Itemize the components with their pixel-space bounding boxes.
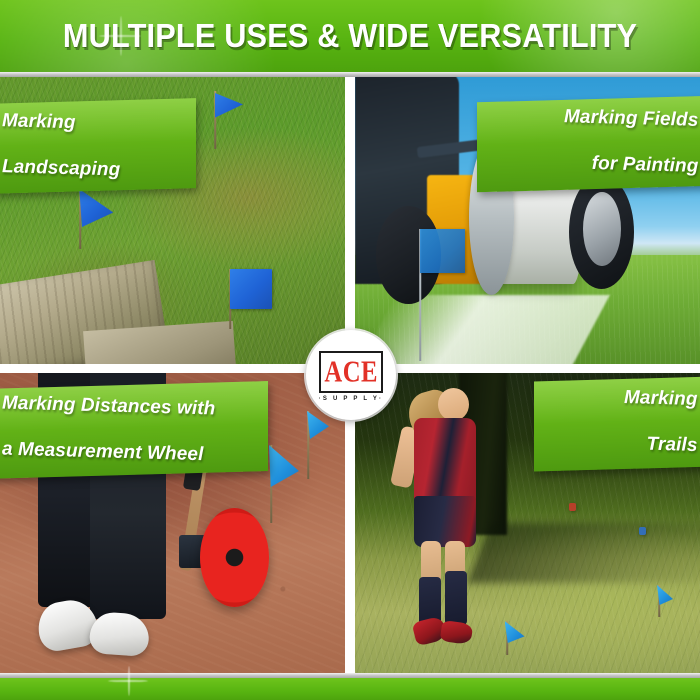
panel-marking-distances[interactable]: Marking Distances with a Measurement Whe… [0,373,345,673]
marker-flag-icon [62,187,98,249]
caption-line-2: a Measurement Wheel [2,438,215,467]
caption-line-1: Marking Distances with [2,392,215,421]
page-title: MULTIPLE USES & WIDE VERSATILITY [25,0,676,72]
panel-caption-fields: Marking Fields for Painting [477,96,700,192]
marker-flag-icon [495,621,519,655]
marker-flag-icon [228,269,272,329]
marker-flag-icon [569,503,577,513]
logo-tagline: ·S U P P L Y· [319,396,384,402]
caption-line-1: Marking Fields [564,105,698,132]
runner-sock [445,571,467,625]
header-divider [0,72,700,77]
footer-banner [0,678,700,700]
caption-line-2: for Painting [564,151,698,178]
runner-jersey [414,418,476,502]
logo-brand-text: ACE [324,356,378,387]
logo-frame: ACE [319,351,383,393]
panel-marking-landscaping[interactable]: Marking Landscaping [0,77,345,364]
marker-flag-icon [200,91,230,149]
panel-caption-landscaping: Marking Landscaping [0,98,196,193]
painted-line [356,295,610,364]
caption-line-2: Trails [624,432,698,457]
panel-caption-trails: Marking Trails [534,376,700,471]
panel-marking-trails[interactable]: Marking Trails [355,373,700,673]
marker-flag-icon [639,527,647,537]
caption-line-1: Marking [2,109,120,135]
brand-logo[interactable]: ACE ·S U P P L Y· [306,330,396,420]
caption-line-2: Landscaping [2,156,120,182]
marker-flag-icon [649,585,669,617]
footer-divider [0,673,700,678]
marker-flag-icon [417,229,465,361]
panel-caption-distances: Marking Distances with a Measurement Whe… [0,381,268,478]
panel-marking-fields-for-painting[interactable]: Marking Fields for Painting [355,77,700,364]
wheel-hub [583,192,621,267]
tree-shadow [467,523,700,583]
marker-flag-icon [295,411,321,479]
caption-line-1: Marking [624,386,698,411]
poster: MULTIPLE USES & WIDE VERSATILITY [0,0,700,700]
runner-shorts [414,496,476,547]
runner-head [438,388,469,421]
